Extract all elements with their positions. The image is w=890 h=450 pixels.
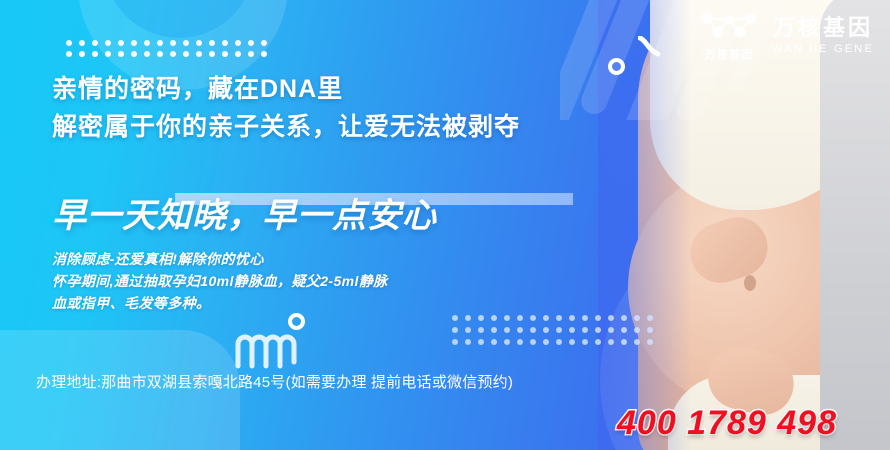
headline-line-2: 解密属于你的亲子关系，让爱无法被剥夺: [52, 108, 692, 146]
molecule-icon: [698, 10, 760, 44]
phone-number[interactable]: 400 1789 498: [617, 404, 837, 443]
sub-line-1: 消除顾虑-还爱真相!解除你的忧心: [52, 248, 672, 270]
decor-dot-grid-middle: [452, 315, 660, 351]
headline-line-1: 亲情的密码，藏在DNA里: [52, 70, 692, 108]
squiggle-icon: [638, 36, 664, 58]
address-text: 办理地址:那曲市双湖县索嘎北路45号(如需要办理 提前电话或微信预约): [36, 371, 513, 392]
sub-line-2: 怀孕期间,通过抽取孕妇10ml静脉血，疑父2-5ml静脉: [52, 270, 672, 292]
sub-line-3: 血或指甲、毛发等多种。: [52, 292, 672, 314]
promo-banner: 亲情的密码，藏在DNA里 解密属于你的亲子关系，让爱无法被剥夺 早一天知晓，早一…: [0, 0, 890, 450]
brand-name-cn: 万核基因: [773, 17, 873, 39]
sub-description: 消除顾虑-还爱真相!解除你的忧心 怀孕期间,通过抽取孕妇10ml静脉血，疑父2-…: [52, 248, 672, 314]
ring-icon: [288, 313, 305, 330]
slogan-text: 早一天知晓，早一点安心: [52, 188, 692, 237]
headline: 亲情的密码，藏在DNA里 解密属于你的亲子关系，让爱无法被剥夺: [52, 70, 692, 146]
brand-logo[interactable]: 万核基因 万核基因 WAN HE GENE: [698, 10, 874, 62]
logo-wordmark: 万核基因 WAN HE GENE: [772, 17, 874, 55]
logo-mark: 万核基因: [698, 10, 760, 62]
brand-name-en: WAN HE GENE: [772, 44, 874, 55]
decor-dot-grid-top: [66, 40, 274, 62]
logo-mark-label: 万核基因: [705, 46, 753, 62]
wave-icon: [233, 330, 303, 370]
